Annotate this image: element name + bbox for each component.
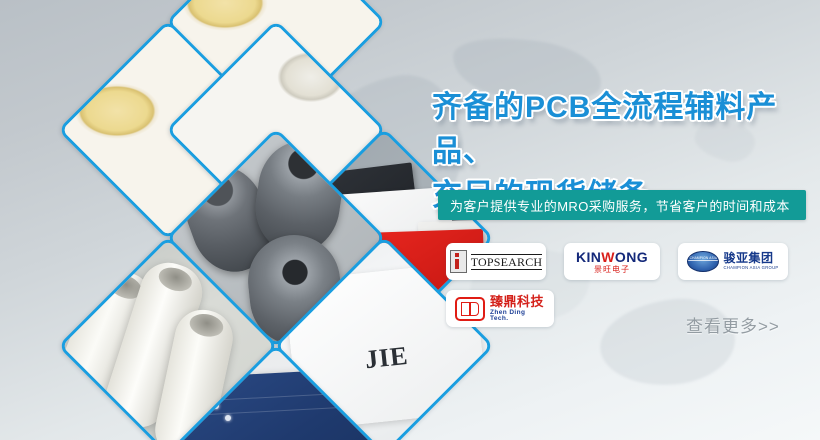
headline-line-1: 齐备的PCB全流程辅料产品、 [432,91,777,168]
collage-tile-caption: JIE [364,341,410,375]
globe-icon [687,251,719,272]
banner-subtitle-text: 为客户提供专业的MRO采购服务，节省客户的时间和成本 [438,196,790,215]
promo-banner: JIE 齐备的PCB全流程辅料产品、 充足的现货储备 为客户提供专业的MRO采购… [0,0,820,440]
kinwong-chinese-name: 景旺电子 [576,266,648,274]
champion-asia-chinese-name: 骏亚集团 [723,252,778,264]
brand-logo-kinwong[interactable]: KINWONG 景旺电子 [564,243,660,280]
topsearch-mark-icon [450,250,467,273]
brand-logo-row-1: TOPSEARCH KINWONG 景旺电子 骏亚集团 CHAMPION ASI… [446,243,796,280]
kinwong-text-part1: KIN [576,249,601,265]
kinwong-text-accent: W [601,249,615,265]
banner-subtitle-bar: 为客户提供专业的MRO采购服务，节省客户的时间和成本 [438,190,806,220]
product-photo-collage: JIE [0,0,460,440]
topsearch-wordmark: TOPSEARCH [471,254,543,270]
zhen-ding-mark-icon [455,297,485,321]
kinwong-text-part2: ONG [615,249,648,265]
brand-logo-topsearch[interactable]: TOPSEARCH [446,243,546,280]
zhen-ding-chinese-name: 臻鼎科技 [490,295,545,308]
brand-logo-champion-asia[interactable]: 骏亚集团 CHAMPION ASIA GROUP [678,243,788,280]
brand-logo-zhen-ding[interactable]: 臻鼎科技 Zhen Ding Tech. [446,290,554,327]
kinwong-wordmark: KINWONG [576,250,648,264]
zhen-ding-english-name: Zhen Ding Tech. [490,310,545,323]
view-more-link[interactable]: 查看更多>> [686,312,780,337]
champion-asia-english-name: CHAMPION ASIA GROUP [723,266,778,270]
